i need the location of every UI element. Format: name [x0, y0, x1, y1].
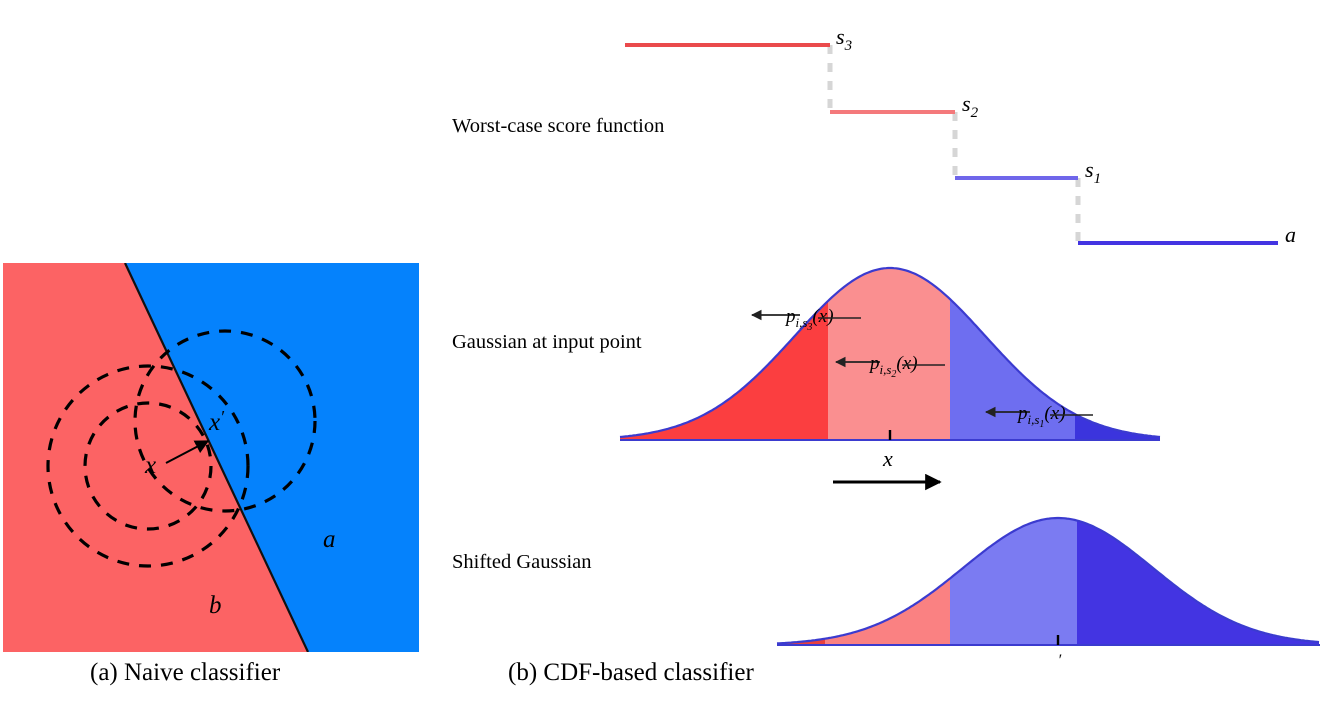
gauss1-band-p-i-s3	[440, 250, 828, 450]
label-x: x	[144, 452, 156, 479]
step-label-s1: s1	[1085, 157, 1101, 187]
panel-cdf-based-classifier: s3 s2 s1 a x pi,s3(x)	[440, 0, 1322, 660]
chart-gaussian-at-input-point: x pi,s3(x) pi,s2(x) pi,s1(x)	[440, 250, 1322, 471]
gauss1-band-p-i-s2	[828, 250, 950, 450]
step-connectors	[830, 45, 1078, 243]
label-region-b: b	[209, 592, 222, 619]
cdf-classifier-svg: s3 s2 s1 a x pi,s3(x)	[440, 0, 1322, 660]
gauss2-band-p-i-s3	[600, 500, 825, 660]
gauss1-band-tail	[1075, 250, 1322, 450]
gauss2-tick-label-xprime: x′	[1047, 652, 1062, 660]
step-label-s2: s2	[962, 91, 979, 121]
chart-worst-case-score-function: s3 s2 s1 a	[625, 24, 1296, 247]
panel-naive-classifier: x x′ a b	[3, 263, 419, 652]
caption-panel-a: (a) Naive classifier	[90, 659, 280, 687]
gauss2-band-tail	[1077, 500, 1322, 660]
chart-shifted-gaussian: x′	[600, 482, 1322, 660]
label-region-a: a	[323, 526, 336, 553]
gauss1-tick-label-x: x	[882, 446, 893, 471]
step-label-s3: s3	[836, 24, 852, 54]
caption-panel-b: (b) CDF-based classifier	[508, 659, 754, 687]
step-label-a: a	[1285, 222, 1296, 247]
figure-root: x x′ a b (a) Naive classifier Worst-case…	[0, 0, 1322, 702]
naive-classifier-svg: x x′ a b	[3, 263, 419, 652]
